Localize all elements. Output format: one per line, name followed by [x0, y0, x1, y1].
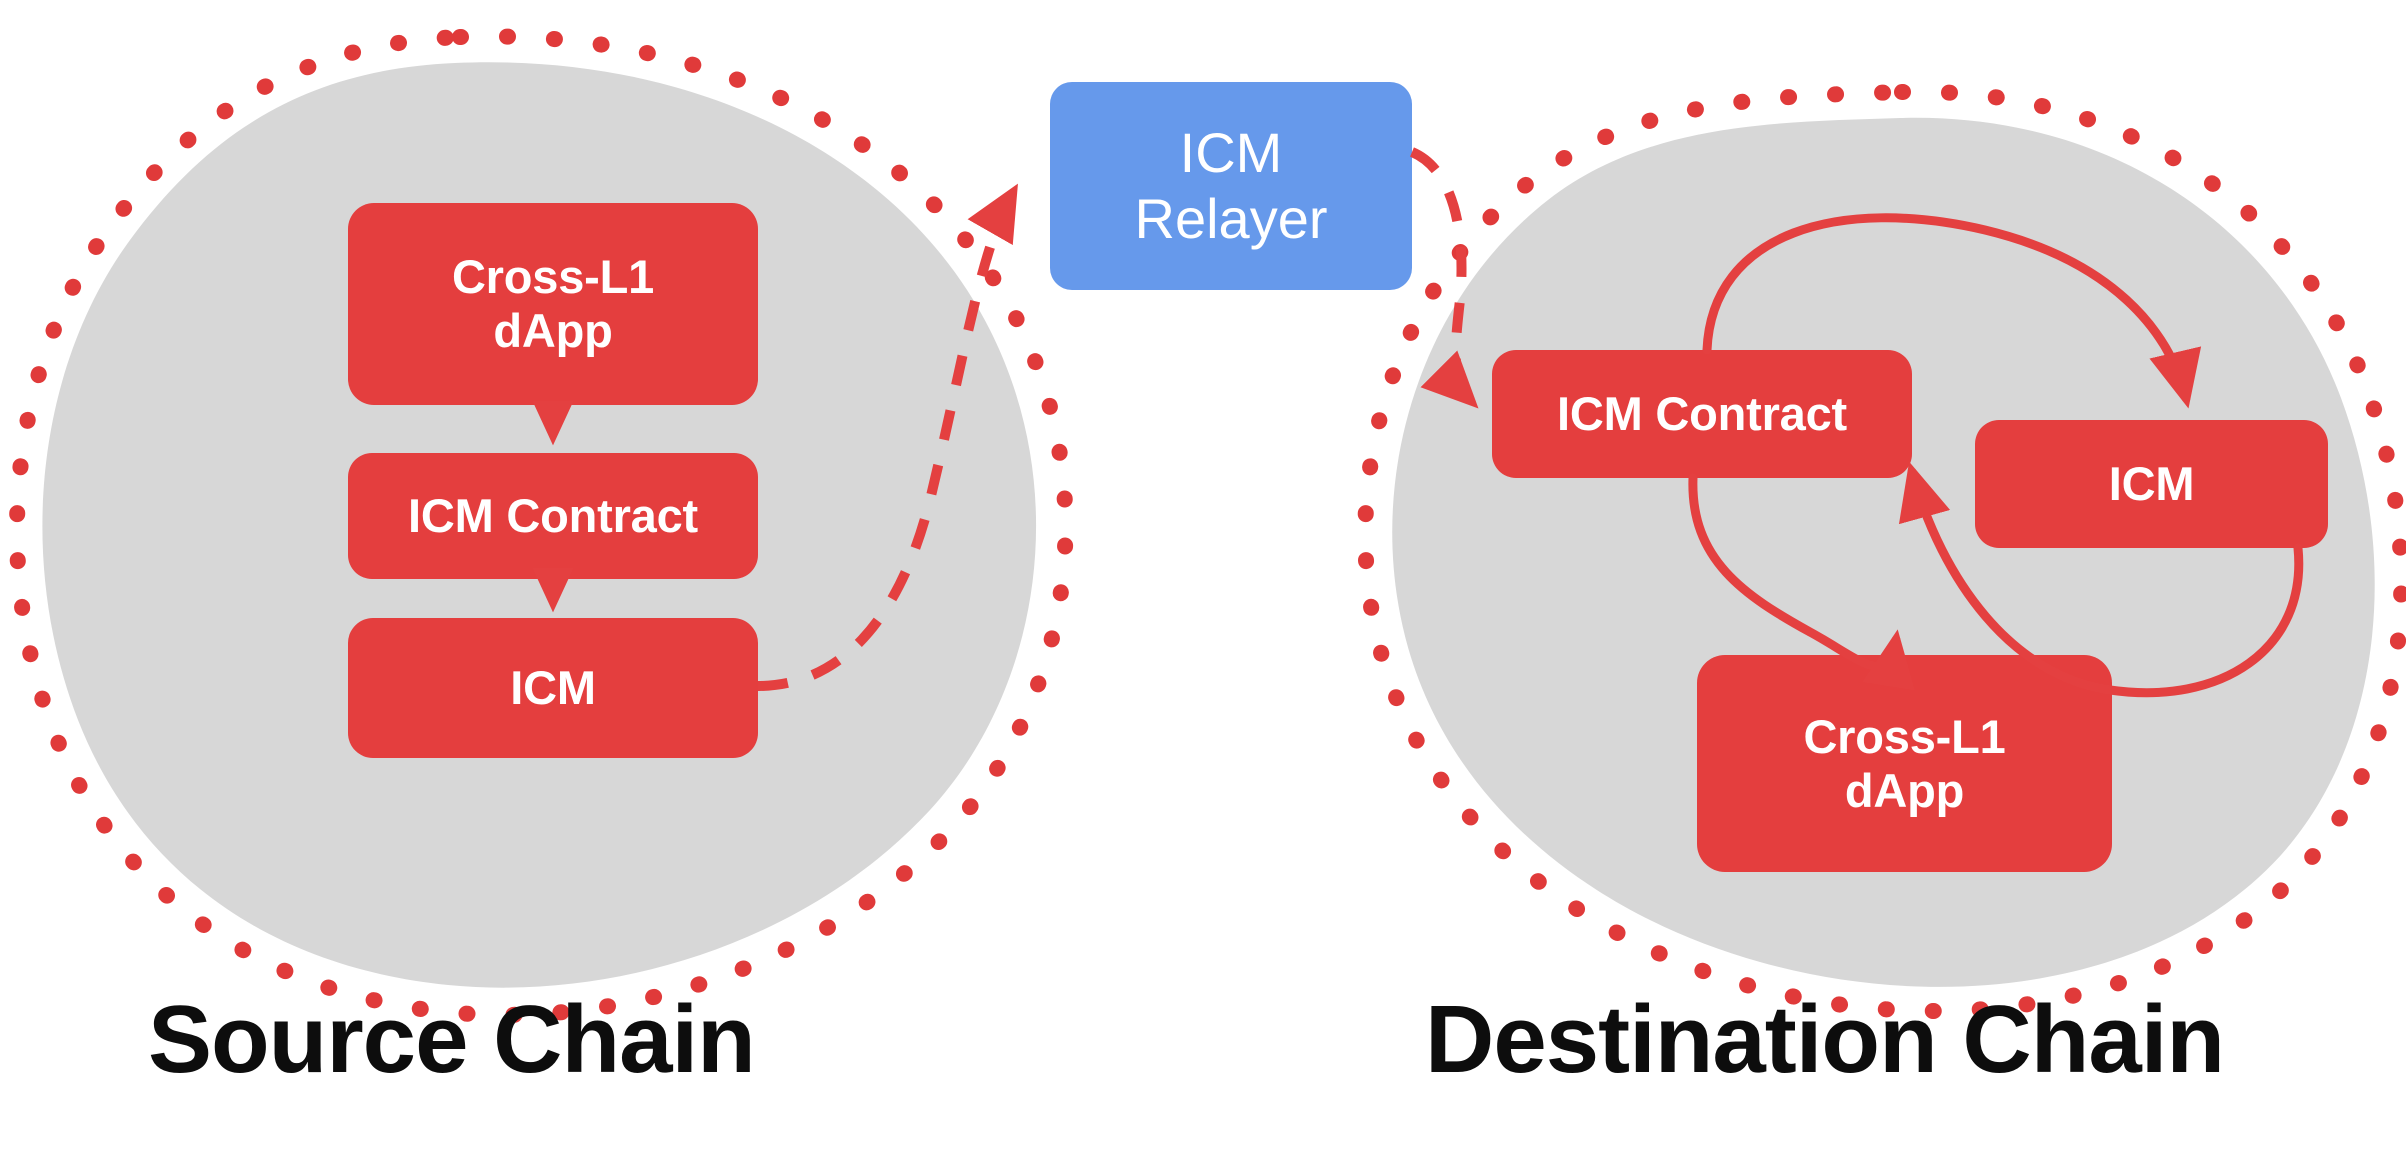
- destination-chain-caption: Destination Chain: [1425, 985, 2224, 1095]
- source-chain-nodes: [348, 203, 758, 758]
- diagram-canvas: Cross-L1 dApp ICM Contract ICM ICM Relay…: [0, 0, 2406, 1160]
- node-src-cross-l1-dapp[interactable]: [348, 203, 758, 405]
- node-dst-icm[interactable]: [1975, 420, 2328, 548]
- node-dst-icm-contract[interactable]: [1492, 350, 1912, 478]
- node-src-icm-contract[interactable]: [348, 453, 758, 579]
- node-icm-relayer[interactable]: [1050, 82, 1412, 290]
- source-chain-caption: Source Chain: [148, 985, 755, 1095]
- node-dst-cross-l1-dapp[interactable]: [1697, 655, 2112, 872]
- destination-chain-region: [1365, 92, 2401, 1011]
- node-src-icm[interactable]: [348, 618, 758, 758]
